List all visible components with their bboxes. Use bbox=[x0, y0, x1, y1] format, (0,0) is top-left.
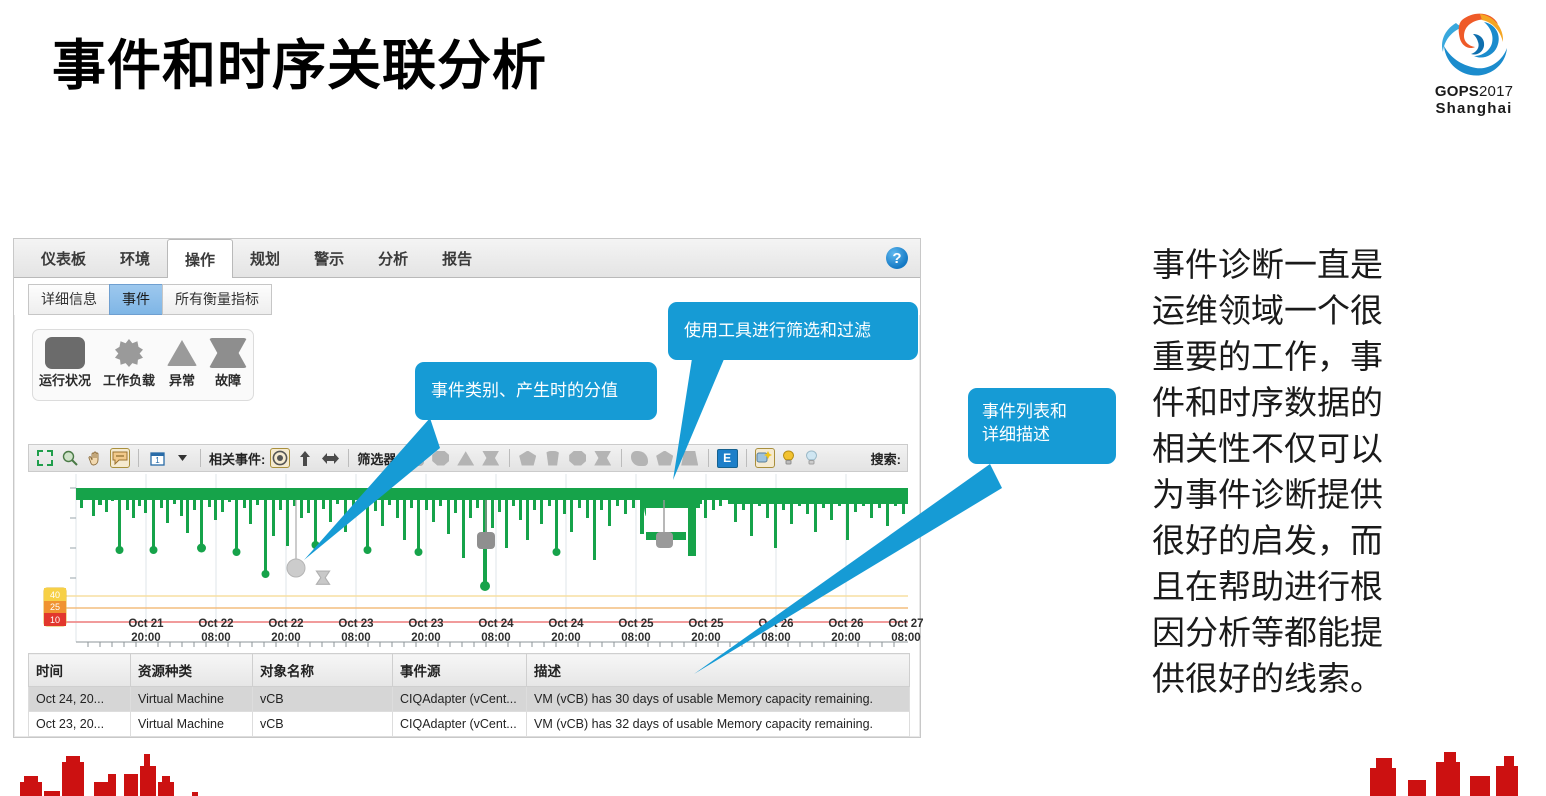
cell-time: Oct 24, 20... bbox=[29, 687, 131, 712]
x-tick: Oct 2408:00 bbox=[478, 617, 513, 646]
skyline-decor-right bbox=[1286, 748, 1546, 796]
toolbar-divider bbox=[509, 449, 510, 467]
tab-label: 环境 bbox=[120, 248, 150, 269]
cell-description: VM (vCB) has 32 days of usable Memory ca… bbox=[527, 712, 910, 737]
related-events-label: 相关事件: bbox=[209, 449, 265, 468]
subtab-events[interactable]: 事件 bbox=[109, 284, 162, 315]
tab-planning[interactable]: 规划 bbox=[233, 239, 297, 277]
cell-object-name: vCB bbox=[253, 687, 393, 712]
x-tick-date: Oct 22 bbox=[268, 617, 303, 631]
body-line: 供很好的线索。 bbox=[1152, 657, 1412, 703]
svg-text:40: 40 bbox=[50, 590, 60, 600]
tab-analysis[interactable]: 分析 bbox=[361, 239, 425, 277]
body-line: 重要的工作，事 bbox=[1152, 335, 1412, 381]
svg-text:1: 1 bbox=[155, 456, 160, 465]
body-line: 为事件诊断提供 bbox=[1152, 473, 1412, 519]
page-title: 事件和时序关联分析 bbox=[52, 21, 547, 100]
body-line: 件和时序数据的 bbox=[1152, 381, 1412, 427]
x-tick-time: 20:00 bbox=[128, 631, 163, 645]
column-header-event-source[interactable]: 事件源 bbox=[393, 654, 527, 687]
x-tick-date: Oct 24 bbox=[548, 617, 583, 631]
callout-event-list-tail bbox=[690, 462, 1010, 682]
target-icon[interactable] bbox=[270, 448, 290, 468]
calendar-dropdown-icon[interactable] bbox=[172, 448, 192, 468]
cell-resource-kind: Virtual Machine bbox=[131, 687, 253, 712]
filter-octagon-icon[interactable] bbox=[568, 448, 588, 468]
x-tick-date: Oct 24 bbox=[478, 617, 513, 631]
calendar-icon[interactable]: 1 bbox=[147, 448, 167, 468]
legend-item-fault: 故障 bbox=[209, 336, 247, 389]
x-tick-date: Oct 25 bbox=[618, 617, 653, 631]
body-line: 因分析等都能提 bbox=[1152, 611, 1412, 657]
table-row[interactable]: Oct 24, 20... Virtual Machine vCB CIQAda… bbox=[29, 687, 910, 712]
callout-event-list-line2: 详细描述 bbox=[982, 424, 1102, 447]
body-paragraph: 事件诊断一直是 运维领域一个很 重要的工作，事 件和时序数据的 相关性不仅可以 … bbox=[1152, 243, 1412, 703]
callout-filter-tools: 使用工具进行筛选和过滤 bbox=[668, 302, 918, 360]
column-header-object-name[interactable]: 对象名称 bbox=[253, 654, 393, 687]
tab-reports[interactable]: 报告 bbox=[425, 239, 489, 277]
gops-swirl-icon bbox=[1436, 6, 1512, 82]
filter-triangle-icon[interactable] bbox=[456, 448, 476, 468]
callout-event-category-tail bbox=[290, 418, 440, 568]
subtab-details[interactable]: 详细信息 bbox=[28, 284, 109, 315]
cell-event-source: CIQAdapter (vCent... bbox=[393, 687, 527, 712]
filter-hourglass-icon[interactable] bbox=[481, 448, 501, 468]
annotation-bubble-icon[interactable] bbox=[110, 448, 130, 468]
rounded-square-icon bbox=[39, 336, 91, 370]
x-tick: Oct 2120:00 bbox=[128, 617, 163, 646]
logo-line1: GOPS2017 bbox=[1418, 83, 1530, 100]
gear-icon bbox=[103, 336, 155, 370]
x-tick-time: 20:00 bbox=[548, 631, 583, 645]
legend-label: 异常 bbox=[167, 370, 197, 389]
legend-label: 运行状况 bbox=[39, 370, 91, 389]
legend-label: 工作负载 bbox=[103, 370, 155, 389]
tab-label: 分析 bbox=[378, 248, 408, 269]
toolbar-divider bbox=[200, 449, 201, 467]
skyline-decor-left bbox=[0, 748, 300, 796]
toolbar-divider bbox=[621, 449, 622, 467]
table-row[interactable]: Oct 23, 20... Virtual Machine vCB CIQAda… bbox=[29, 712, 910, 737]
x-tick: Oct 2220:00 bbox=[268, 617, 303, 646]
body-line: 运维领域一个很 bbox=[1152, 289, 1412, 335]
tab-dashboard[interactable]: 仪表板 bbox=[24, 239, 103, 277]
logo-gops-text: GOPS bbox=[1435, 83, 1479, 100]
subtab-all-metrics[interactable]: 所有衡量指标 bbox=[162, 284, 272, 315]
body-line: 事件诊断一直是 bbox=[1152, 243, 1412, 289]
column-header-time[interactable]: 时间 bbox=[29, 654, 131, 687]
body-line: 相关性不仅可以 bbox=[1152, 427, 1412, 473]
cell-object-name: vCB bbox=[253, 712, 393, 737]
pan-hand-icon[interactable] bbox=[85, 448, 105, 468]
tab-label: 规划 bbox=[250, 248, 280, 269]
x-tick-time: 08:00 bbox=[338, 631, 373, 645]
legend-item-health: 运行状况 bbox=[39, 336, 91, 389]
cell-resource-kind: Virtual Machine bbox=[131, 712, 253, 737]
zoom-magnifier-icon[interactable] bbox=[60, 448, 80, 468]
callout-filter-tools-text: 使用工具进行筛选和过滤 bbox=[684, 320, 871, 343]
x-tick: Oct 2420:00 bbox=[548, 617, 583, 646]
gops-logo: GOPS2017 Shanghai bbox=[1418, 6, 1530, 117]
filter-home-icon[interactable] bbox=[518, 448, 538, 468]
x-tick-date: Oct 21 bbox=[128, 617, 163, 631]
triangle-icon bbox=[167, 336, 197, 370]
tab-operations[interactable]: 操作 bbox=[167, 239, 233, 278]
x-tick-date: Oct 23 bbox=[408, 617, 443, 631]
column-header-resource-kind[interactable]: 资源种类 bbox=[131, 654, 253, 687]
callout-event-list: 事件列表和 详细描述 bbox=[968, 388, 1116, 464]
tab-alerts[interactable]: 警示 bbox=[297, 239, 361, 277]
cell-time: Oct 23, 20... bbox=[29, 712, 131, 737]
fullscreen-icon[interactable] bbox=[35, 448, 55, 468]
legend-item-workload: 工作负载 bbox=[103, 336, 155, 389]
x-tick: Oct 2320:00 bbox=[408, 617, 443, 646]
x-tick-time: 20:00 bbox=[408, 631, 443, 645]
x-tick-date: Oct 22 bbox=[198, 617, 233, 631]
x-tick-date: Oct 23 bbox=[338, 617, 373, 631]
filter-cup-icon[interactable] bbox=[543, 448, 563, 468]
badge-legend: 运行状况 工作负载 异常 故障 bbox=[32, 329, 254, 401]
hourglass-icon bbox=[209, 336, 247, 370]
callout-event-category: 事件类别、产生时的分值 bbox=[415, 362, 657, 420]
body-line: 很好的启发，而 bbox=[1152, 519, 1412, 565]
logo-year-text: 2017 bbox=[1479, 83, 1513, 100]
cell-description: VM (vCB) has 30 days of usable Memory ca… bbox=[527, 687, 910, 712]
tab-environment[interactable]: 环境 bbox=[103, 239, 167, 277]
tab-label: 报告 bbox=[442, 248, 472, 269]
logo-city-text: Shanghai bbox=[1418, 100, 1530, 117]
legend-label: 故障 bbox=[209, 370, 247, 389]
filter-hourglass2-icon[interactable] bbox=[593, 448, 613, 468]
toolbar-divider bbox=[138, 449, 139, 467]
svg-text:25: 25 bbox=[50, 602, 60, 612]
main-tab-bar: 仪表板 环境 操作 规划 警示 分析 报告 ? bbox=[14, 239, 920, 278]
filter-blob-icon[interactable] bbox=[630, 448, 650, 468]
help-icon[interactable]: ? bbox=[886, 247, 908, 269]
tab-label: 仪表板 bbox=[41, 248, 86, 269]
x-tick-time: 08:00 bbox=[618, 631, 653, 645]
x-tick-time: 08:00 bbox=[198, 631, 233, 645]
x-tick-time: 20:00 bbox=[268, 631, 303, 645]
callout-event-category-text: 事件类别、产生时的分值 bbox=[431, 380, 618, 403]
tab-label: 警示 bbox=[314, 248, 344, 269]
x-tick: Oct 2208:00 bbox=[198, 617, 233, 646]
x-tick-time: 08:00 bbox=[478, 631, 513, 645]
tab-label: 操作 bbox=[185, 249, 215, 270]
x-tick: Oct 2508:00 bbox=[618, 617, 653, 646]
cell-event-source: CIQAdapter (vCent... bbox=[393, 712, 527, 737]
body-line: 且在帮助进行根 bbox=[1152, 565, 1412, 611]
legend-item-anomaly: 异常 bbox=[167, 336, 197, 389]
callout-event-list-line1: 事件列表和 bbox=[982, 401, 1102, 424]
x-tick: Oct 2308:00 bbox=[338, 617, 373, 646]
help-icon-label: ? bbox=[892, 251, 901, 266]
